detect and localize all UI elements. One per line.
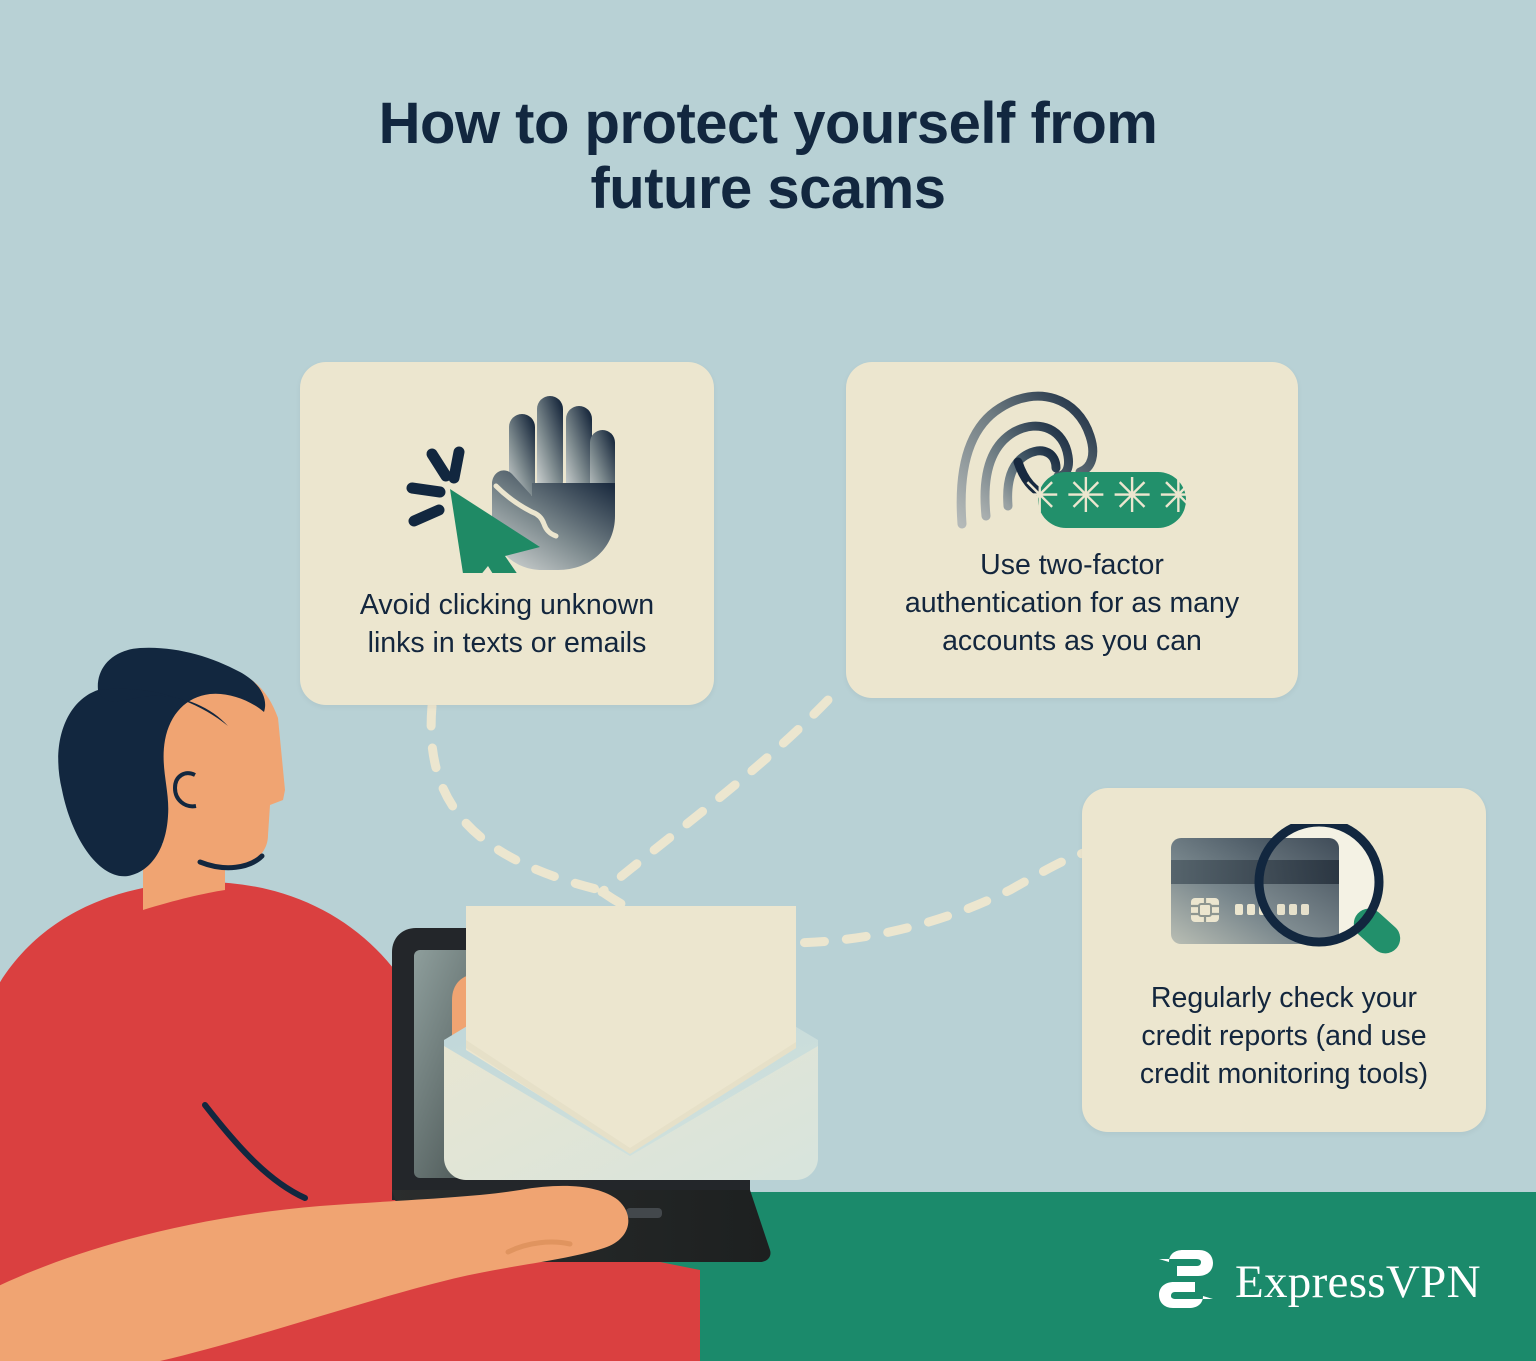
page-title: How to protect yourself from future scam…: [0, 92, 1536, 222]
svg-text:✳✳✳✳: ✳✳✳✳: [1020, 470, 1192, 523]
card3-line2: credit reports (and use: [1141, 1020, 1426, 1052]
card-credit-reports-text: Regularly check your credit reports (and…: [1122, 980, 1446, 1094]
card2-line1: Use two-factor: [980, 549, 1164, 581]
expressvpn-logo[interactable]: ExpressVPN: [1155, 1248, 1481, 1315]
credit-card-magnifier-icon: [1159, 824, 1409, 964]
card-avoid-links[interactable]: Avoid clicking unknown links in texts or…: [300, 362, 714, 705]
card-two-factor-text: Use two-factor authentication for as man…: [887, 547, 1257, 661]
card1-line2: links in texts or emails: [368, 627, 647, 659]
card-two-factor[interactable]: ✳✳✳✳ Use two-factor authentication for a…: [846, 362, 1298, 698]
card3-line3: credit monitoring tools): [1140, 1058, 1428, 1090]
expressvpn-wordmark: ExpressVPN: [1235, 1255, 1481, 1309]
card3-line1: Regularly check your: [1151, 982, 1417, 1014]
open-envelope: [444, 928, 818, 1180]
expressvpn-e-logo-icon: [1155, 1248, 1217, 1315]
fingerprint-password-icon: ✳✳✳✳: [952, 384, 1192, 539]
infographic-canvas: How to protect yourself from future scam…: [0, 0, 1536, 1361]
letter-fold: [466, 1040, 796, 1154]
page-title-line1: How to protect yourself from: [379, 91, 1158, 156]
letter: [466, 920, 796, 1152]
person-neck: [143, 840, 225, 910]
card-avoid-links-text: Avoid clicking unknown links in texts or…: [342, 587, 672, 663]
password-pill: ✳✳✳✳: [1020, 470, 1192, 528]
card2-line2: authentication for as many: [905, 587, 1239, 619]
page-title-line2: future scams: [590, 156, 945, 221]
cursor-click-stop-hand-icon: [392, 388, 622, 573]
card-credit-reports[interactable]: Regularly check your credit reports (and…: [1082, 788, 1486, 1132]
person-head: [58, 648, 285, 877]
letter-top: [466, 906, 796, 966]
card1-line1: Avoid clicking unknown: [360, 589, 654, 621]
card2-line3: accounts as you can: [942, 625, 1202, 657]
person-hands: [452, 974, 712, 1070]
